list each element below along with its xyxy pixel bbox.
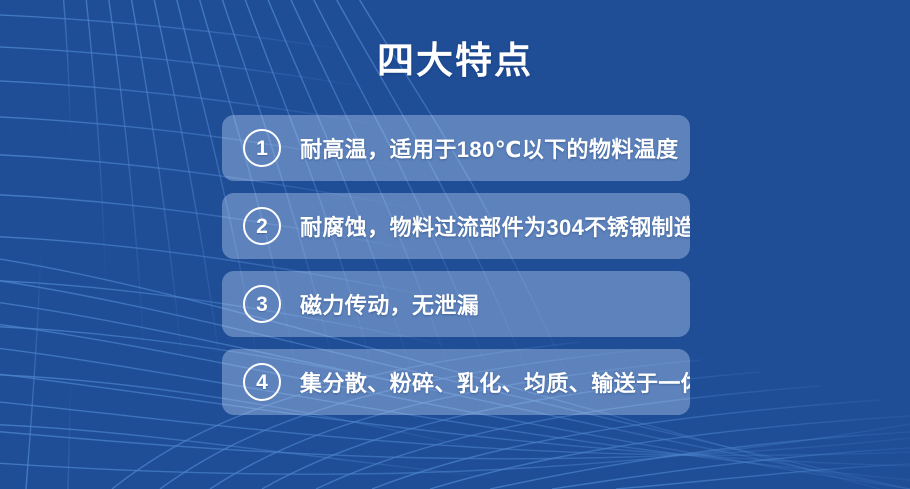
feature-text-2: 耐腐蚀，物料过流部件为304不锈钢制造 bbox=[300, 210, 690, 242]
feature-list: 1 耐高温，适用于180℃以下的物料温度 2 耐腐蚀，物料过流部件为304不锈钢… bbox=[222, 115, 690, 415]
feature-text-4: 集分散、粉碎、乳化、均质、输送于一体 bbox=[300, 366, 690, 398]
feature-card-3[interactable]: 3 磁力传动，无泄漏 bbox=[222, 271, 690, 337]
feature-number-badge-4: 4 bbox=[243, 363, 281, 401]
feature-card-2[interactable]: 2 耐腐蚀，物料过流部件为304不锈钢制造 bbox=[222, 193, 690, 259]
feature-number-badge-2: 2 bbox=[243, 207, 281, 245]
feature-text-1: 耐高温，适用于180℃以下的物料温度 bbox=[300, 132, 679, 164]
feature-text-3: 磁力传动，无泄漏 bbox=[300, 288, 479, 320]
feature-banner: 四大特点 1 耐高温，适用于180℃以下的物料温度 2 耐腐蚀，物料过流部件为3… bbox=[0, 0, 910, 489]
feature-number-badge-3: 3 bbox=[243, 285, 281, 323]
page-title: 四大特点 bbox=[0, 38, 910, 84]
feature-card-1[interactable]: 1 耐高温，适用于180℃以下的物料温度 bbox=[222, 115, 690, 181]
feature-card-4[interactable]: 4 集分散、粉碎、乳化、均质、输送于一体 bbox=[222, 349, 690, 415]
feature-number-badge-1: 1 bbox=[243, 129, 281, 167]
